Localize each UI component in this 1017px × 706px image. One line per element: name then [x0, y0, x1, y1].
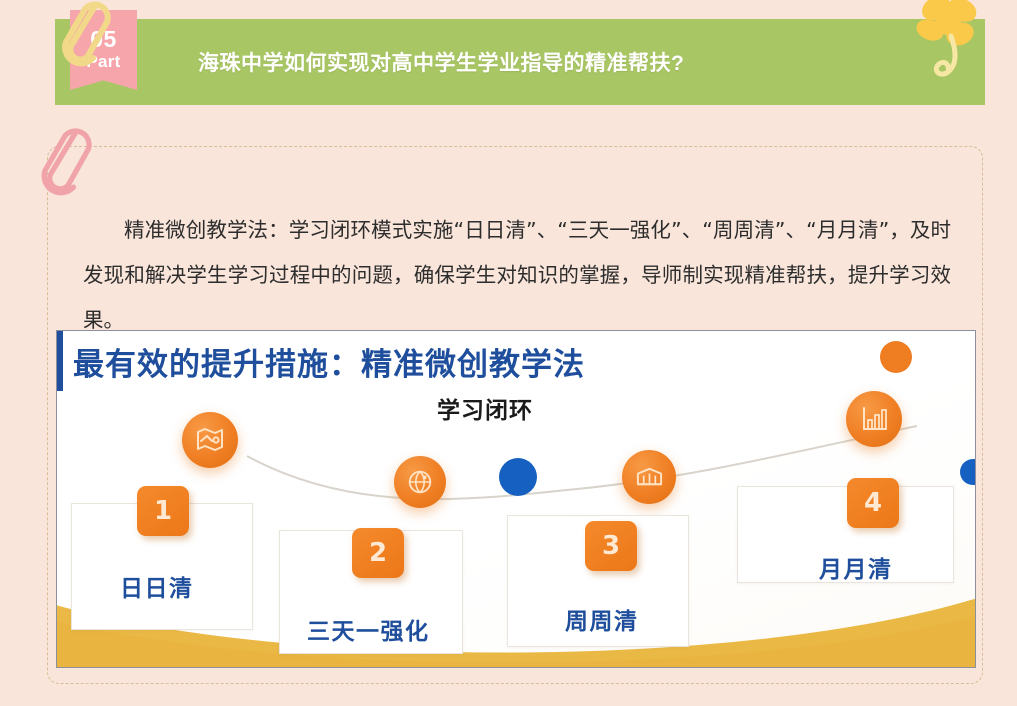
part-badge-label: Part [86, 51, 120, 73]
slide-image: 最有效的提升措施：精准微创教学法 学习闭环 [56, 330, 976, 668]
content-card: 精准微创教学法：学习闭环模式实施“日日清”、“三天一强化”、“周周清”、“月月清… [47, 146, 983, 684]
step-label: 周周清 [565, 602, 639, 636]
blue-node-dot [499, 458, 537, 496]
slide-subtitle: 学习闭环 [437, 391, 533, 425]
step-label: 三天一强化 [307, 612, 430, 646]
slide-title-accent-bar [57, 331, 63, 391]
blue-edge-dot [960, 459, 975, 485]
step-number-tile: 2 [352, 528, 404, 578]
step-label: 月月清 [819, 550, 893, 584]
step-number-tile: 1 [137, 486, 189, 536]
step-label: 日日清 [120, 569, 194, 603]
part-badge-number: 05 [90, 27, 117, 51]
section-header-band: 海珠中学如何实现对高中学生学业指导的精准帮扶? [55, 19, 985, 105]
body-paragraph: 精准微创教学法：学习闭环模式实施“日日清”、“三天一强化”、“周周清”、“月月清… [83, 208, 951, 343]
globe-icon [394, 456, 446, 508]
part-badge: 05 Part [70, 10, 137, 90]
slide-title: 最有效的提升措施：精准微创教学法 [73, 339, 585, 384]
open-book-icon [622, 450, 676, 504]
step-number-tile: 4 [847, 478, 899, 528]
bar-chart-icon [846, 391, 902, 447]
step-number-tile: 3 [585, 521, 637, 571]
section-header-title: 海珠中学如何实现对高中学生学业指导的精准帮扶? [198, 19, 684, 105]
slide-canvas: 最有效的提升措施：精准微创教学法 学习闭环 [57, 331, 975, 667]
orange-node-dot [880, 341, 912, 373]
map-icon [182, 412, 238, 468]
